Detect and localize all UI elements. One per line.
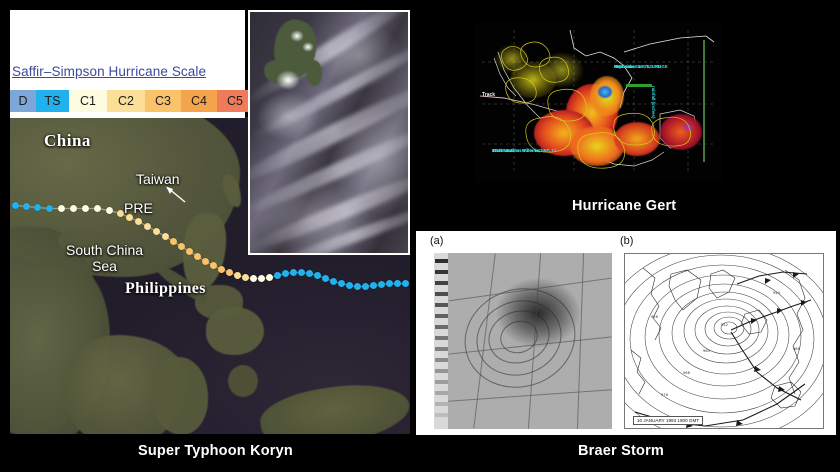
- satellite-cloud-image: [248, 10, 410, 255]
- braer-figure-background: (a) (b): [416, 231, 836, 435]
- grey-scale-tick: [435, 303, 448, 307]
- grey-scale-tick: [435, 270, 448, 274]
- saffir-simpson-scale-bar: DTSC1C2C3C4C5: [10, 90, 253, 112]
- svg-text:960: 960: [703, 349, 711, 353]
- grey-scale-tick: [435, 358, 448, 362]
- gert-rainfall-map: Hurricane Gert T.D. #1-GE September 14-2…: [474, 22, 722, 182]
- saffir-simpson-legend: Saffir–Simpson Hurricane Scale DTSC1C2C3…: [10, 10, 245, 118]
- saffir-simpson-cell-c1: C1: [69, 90, 107, 112]
- gert-green-rule: [703, 40, 705, 162]
- svg-text:968: 968: [683, 371, 691, 375]
- gert-legend-swatch: [626, 84, 652, 87]
- saffir-simpson-cell-c3: C3: [145, 90, 181, 112]
- slide-canvas: China Taiwan PRE South ChinaSea Philippi…: [0, 0, 840, 472]
- panel-super-typhoon-koryn: China Taiwan PRE South ChinaSea Philippi…: [0, 0, 412, 472]
- landmass-mindanao: [206, 307, 264, 355]
- saffir-simpson-title: Saffir–Simpson Hurricane Scale: [12, 64, 206, 79]
- saffir-simpson-cell-ts: TS: [36, 90, 69, 112]
- caption-braer-storm: Braer Storm: [578, 443, 664, 459]
- grey-scale-tick: [435, 347, 448, 351]
- svg-text:976: 976: [661, 393, 669, 397]
- landmass-sulawesi: [150, 357, 208, 434]
- grey-scale-tick: [435, 391, 448, 395]
- braer-pressure-chart: 952 960 968 976 944 988 956 10 JANUARY 1…: [624, 253, 824, 429]
- gert-track-label: Track: [482, 92, 495, 98]
- grey-scale-tick: [435, 336, 448, 340]
- caption-hurricane-gert: Hurricane Gert: [572, 198, 676, 214]
- saffir-simpson-cell-c4: C4: [181, 90, 217, 112]
- grey-scale-tick: [435, 380, 448, 384]
- landmass-halmahera: [228, 365, 258, 397]
- gert-contours: [474, 22, 722, 182]
- saffir-simpson-cell-c2: C2: [107, 90, 145, 112]
- svg-text:952: 952: [721, 323, 728, 327]
- pre-arrow-icon: [160, 185, 186, 205]
- grey-scale-tick: [435, 292, 448, 296]
- grey-scale-tick: [435, 369, 448, 373]
- panel-braer-storm: (a) (b): [412, 228, 840, 472]
- svg-text:988: 988: [793, 347, 801, 351]
- braer-isobars: 952 960 968 976 944 988 956: [625, 254, 823, 428]
- grey-scale-tick: [435, 314, 448, 318]
- caption-super-typhoon-koryn: Super Typhoon Koryn: [138, 443, 293, 459]
- panel-hurricane-gert: Hurricane Gert T.D. #1-GE September 14-2…: [412, 0, 840, 228]
- gert-max-line-3: 1.00" McAllen Miller Int'l AP, TX: [492, 148, 557, 153]
- braer-cloud-field: [448, 253, 612, 429]
- saffir-simpson-cell-d: D: [10, 90, 36, 112]
- landmass-hainan: [58, 229, 96, 253]
- grey-scale-tick: [435, 325, 448, 329]
- grey-scale-tick: [435, 402, 448, 406]
- grey-scale-tick: [435, 281, 448, 285]
- grey-scale-tick: [435, 413, 448, 417]
- svg-text:944: 944: [773, 291, 781, 295]
- braer-grey-scale-bar: [434, 253, 449, 429]
- subpanel-tag-b: (b): [620, 235, 633, 247]
- braer-chart-timestamp: 10 JANUARY 1993 1800 GMT: [633, 416, 703, 425]
- gert-title-line-3: 2011 sites: [614, 64, 635, 69]
- svg-text:956: 956: [651, 315, 659, 319]
- subpanel-tag-a: (a): [430, 235, 443, 247]
- braer-satellite-image: [434, 253, 612, 429]
- gert-legend-unit-label: rainfall (inches): [651, 86, 656, 118]
- grey-scale-tick: [435, 259, 448, 263]
